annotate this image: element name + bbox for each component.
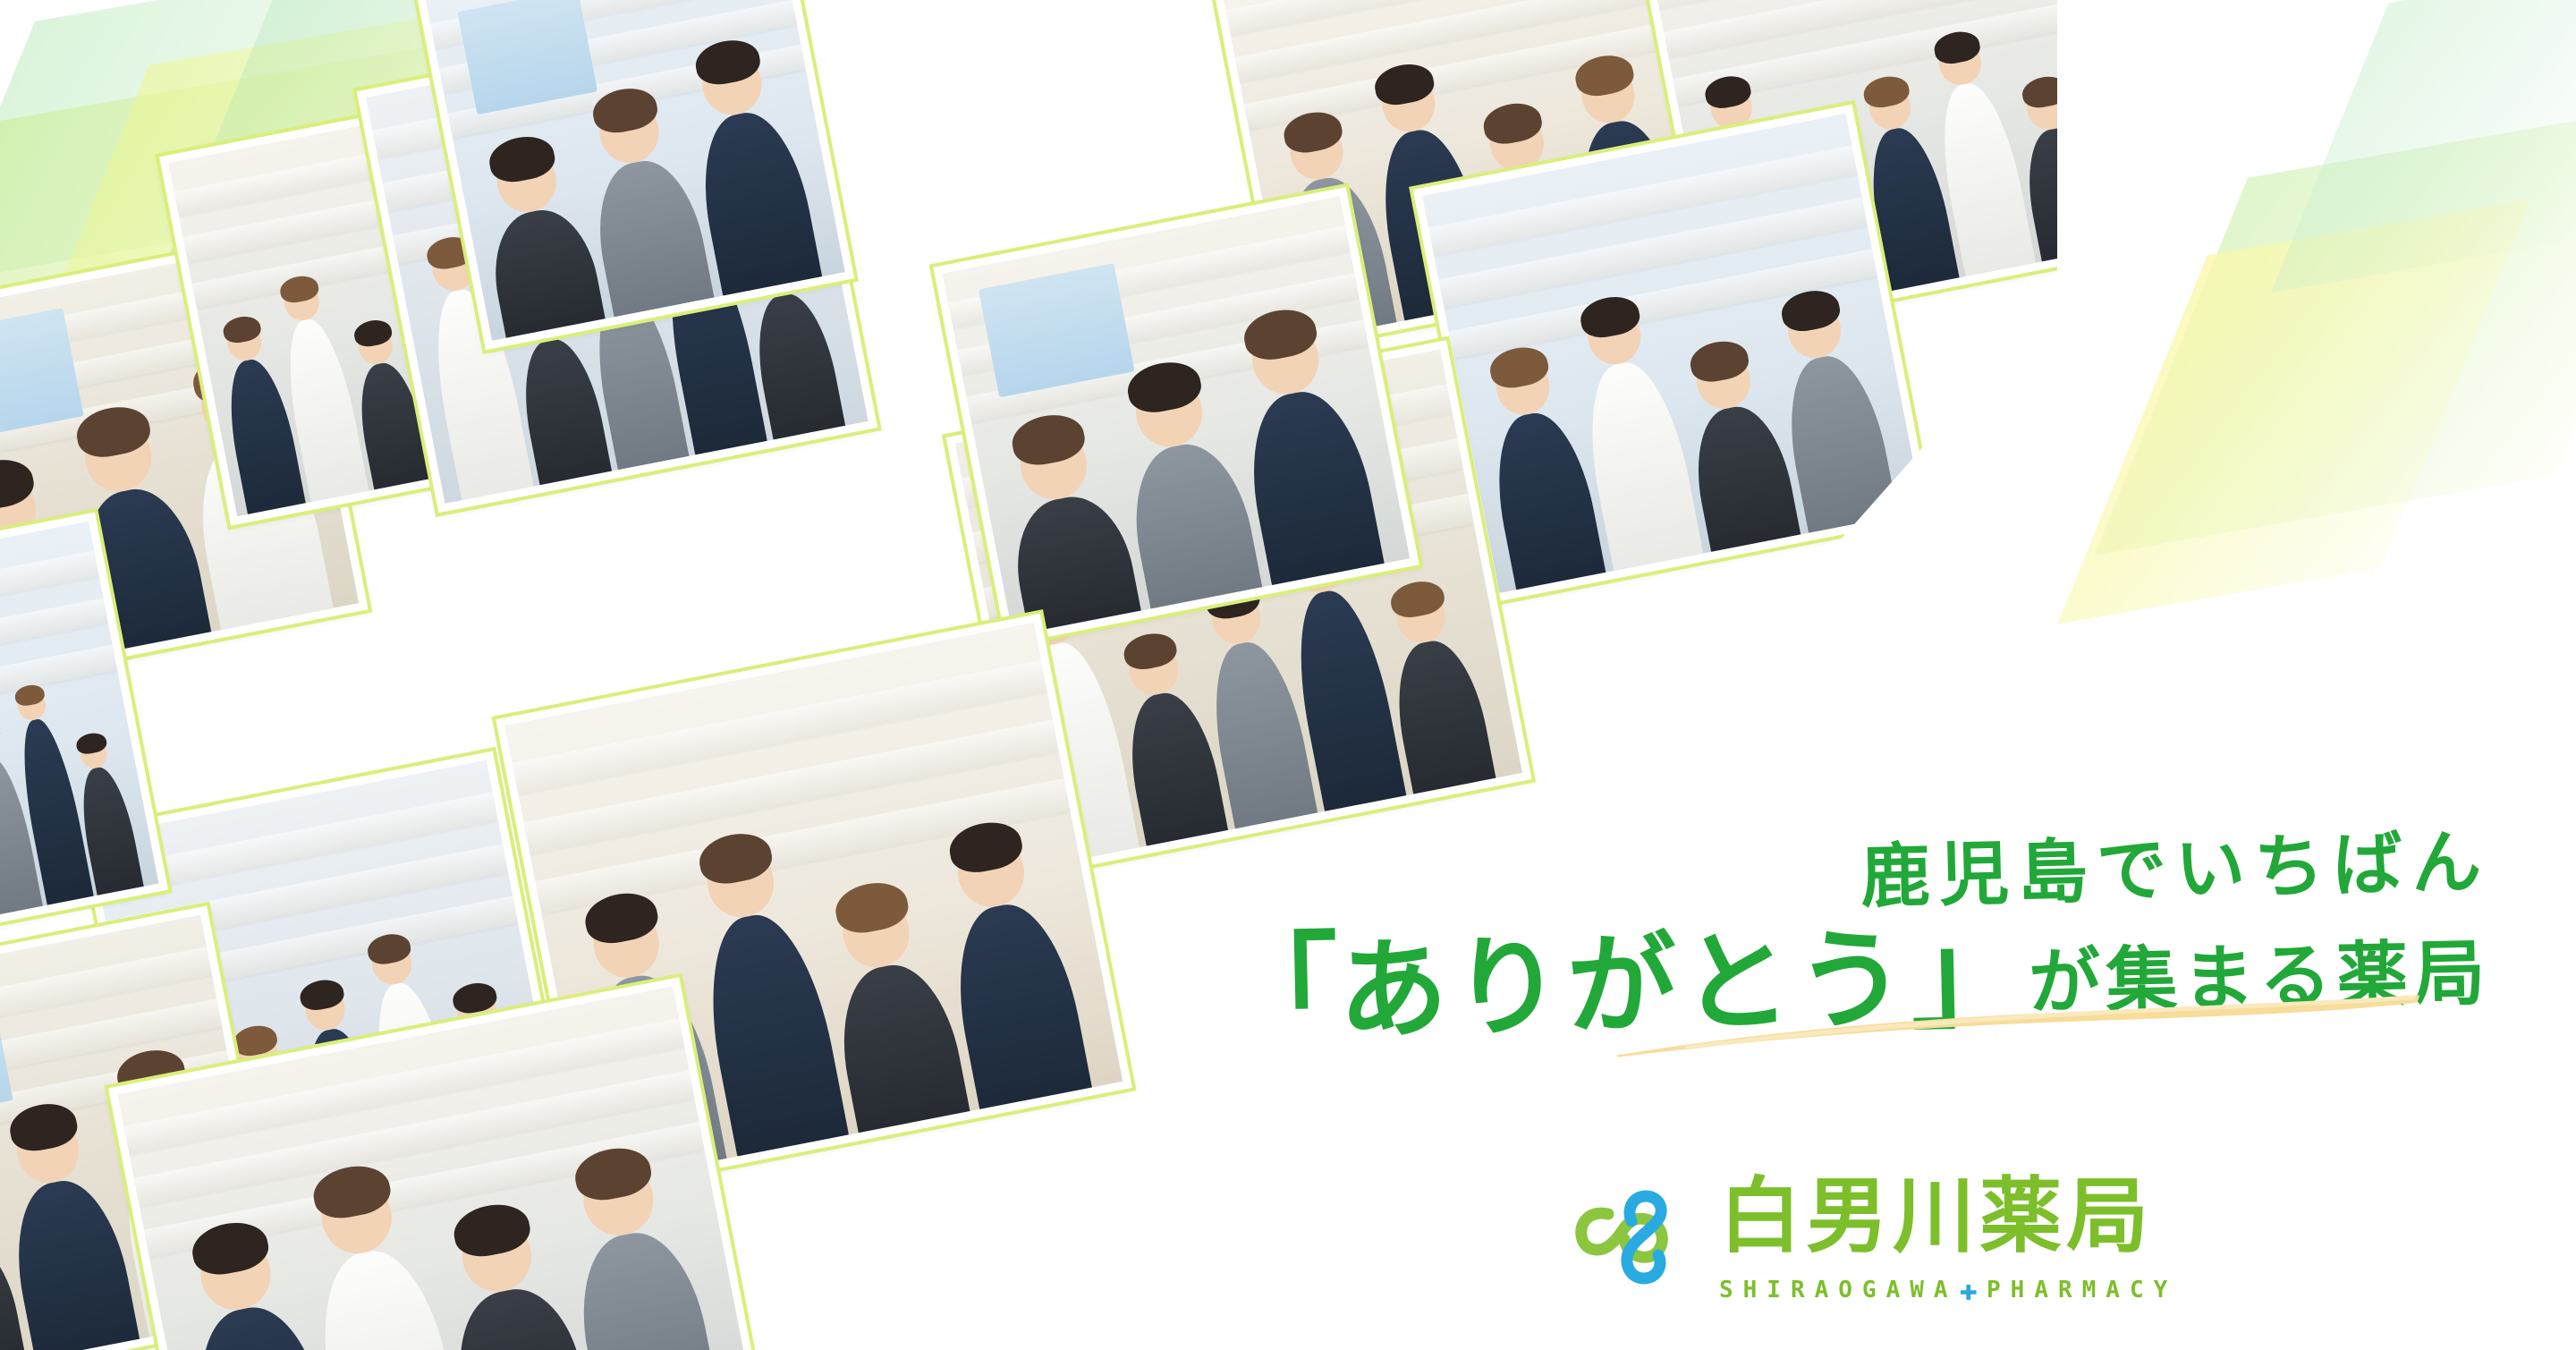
logo-kanji-3: 川 [1893, 1176, 1976, 1258]
logo-roman-right: PHARMACY [1987, 1277, 2177, 1303]
collage-photo-image [943, 197, 1410, 636]
logo-kanji-2: 男 [1806, 1176, 1889, 1258]
collage-photo [933, 187, 1419, 645]
logo-kanji-5: 局 [2066, 1176, 2149, 1258]
logo-roman-row: SHIRAOGAWA ✚ PHARMACY [1719, 1272, 2177, 1308]
headline-line-2: 「 ありがとう 」 が集まる薬局 [1595, 912, 2491, 1039]
logo-text-block: 白 男 川 薬 局 SHIRAOGAWA ✚ PHARMACY [1719, 1176, 2177, 1308]
plus-cross-icon: ✚ [1958, 1272, 1987, 1308]
infinity-clover-mark-icon [1574, 1175, 1689, 1309]
brand-logo: 白 男 川 薬 局 SHIRAOGAWA ✚ PHARMACY [1574, 1152, 2147, 1331]
logo-kanji-4: 薬 [1979, 1176, 2063, 1258]
hero-banner: 鹿児島でいちばん 「 ありがとう 」 が集まる薬局 白 男 川 薬 [0, 0, 2576, 1350]
headline-block: 鹿児島でいちばん 「 ありがとう 」 が集まる薬局 [1596, 828, 2490, 1020]
logo-kanji-1: 白 [1719, 1176, 1802, 1258]
collage-photo [1413, 105, 1932, 603]
logo-kanji-row: 白 男 川 薬 局 [1719, 1176, 2177, 1258]
photo-collage [0, 0, 2057, 1350]
collage-photo-image [425, 0, 844, 341]
quote-open-mark: 「 [1219, 936, 1340, 1047]
collage-photo-image [1422, 114, 1922, 593]
headline-line-1: 鹿児島でいちばん [1595, 828, 2491, 919]
logo-roman-left: SHIRAOGAWA [1719, 1277, 1958, 1303]
